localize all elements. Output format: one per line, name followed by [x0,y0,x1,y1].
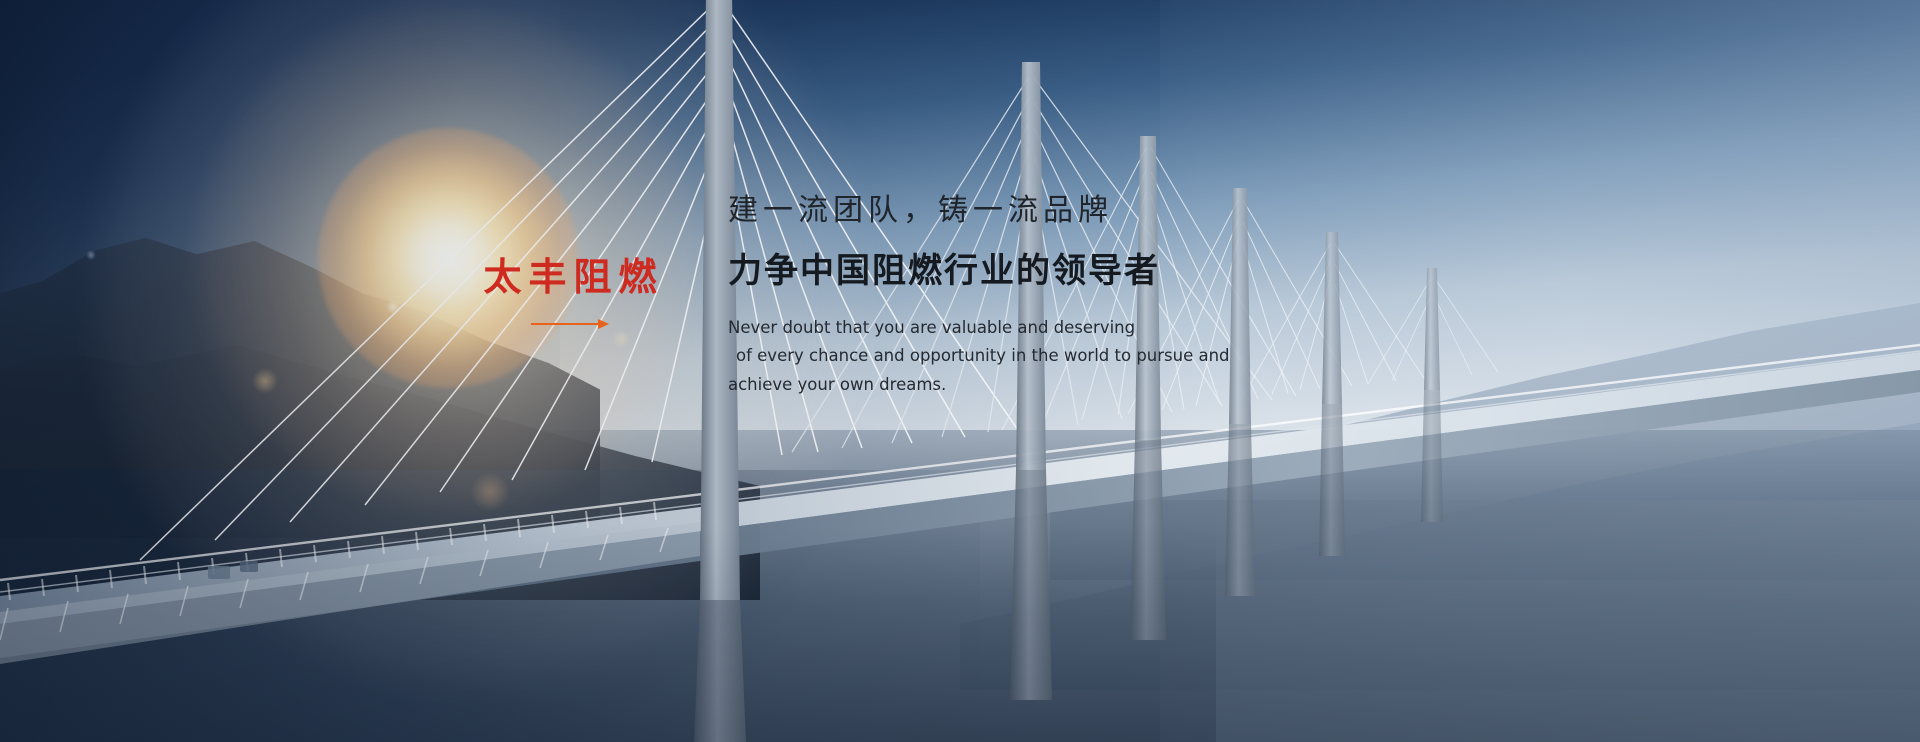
right-arrow-icon [531,318,609,330]
subcopy-line-3: achieve your own dreams. [728,371,1298,399]
subcopy-line-2: of every chance and opportunity in the w… [728,342,1298,370]
arrow-head [598,319,609,329]
banner-content: 太丰阻燃 建一流团队，铸一流品牌 力争中国阻燃行业的领导者 Never doub… [0,0,1920,742]
brand-logo[interactable]: 太丰阻燃 [460,258,680,330]
brand-logo-text: 太丰阻燃 [460,258,680,296]
subcopy-line-1: Never doubt that you are valuable and de… [728,314,1298,342]
arrow-shaft [531,323,603,325]
hero-banner: 太丰阻燃 建一流团队，铸一流品牌 力争中国阻燃行业的领导者 Never doub… [0,0,1920,742]
headline-secondary: 力争中国阻燃行业的领导者 [728,254,1348,288]
banner-text-column: 建一流团队，铸一流品牌 力争中国阻燃行业的领导者 Never doubt tha… [728,196,1348,399]
headline-primary: 建一流团队，铸一流品牌 [728,196,1348,226]
subcopy-paragraph: Never doubt that you are valuable and de… [728,314,1298,399]
